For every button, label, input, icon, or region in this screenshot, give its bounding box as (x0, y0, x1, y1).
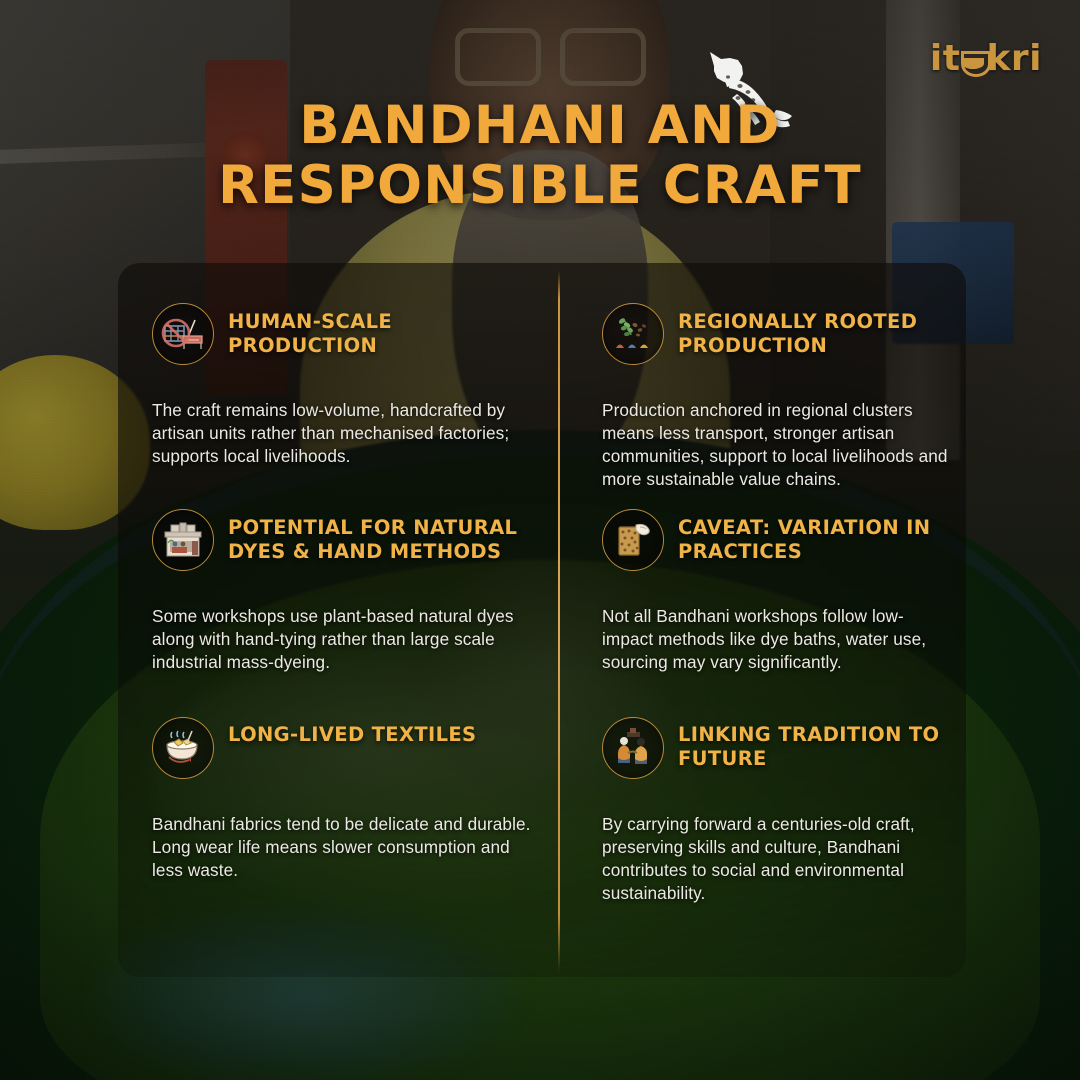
feature-body: Bandhani fabrics tend to be delicate and… (152, 813, 536, 882)
feature-card-caveat-variation-in-practices[interactable]: CAVEAT: VARIATION IN PRACTICES Not all B… (558, 469, 966, 677)
feature-title: LONG-LIVED TEXTILES (228, 717, 476, 747)
feature-body: The craft remains low-volume, handcrafte… (152, 399, 536, 468)
two-artisans-icon (602, 717, 664, 779)
feature-title: REGIONALLY ROOTED PRODUCTION (678, 303, 950, 358)
feature-title: LINKING TRADITION TO FUTURE (678, 717, 950, 771)
brand-logo[interactable]: itkri (930, 38, 1042, 79)
feature-header: LINKING TRADITION TO FUTURE (602, 717, 950, 779)
page-title-line-2: RESPONSIBLE CRAFT (0, 156, 1080, 216)
feature-title: HUMAN-SCALE PRODUCTION (228, 303, 536, 358)
feature-header: POTENTIAL FOR NATURAL DYES & HAND METHOD… (152, 509, 536, 571)
hand-holding-fabric-swatch-icon (602, 509, 664, 571)
feature-header: LONG-LIVED TEXTILES (152, 717, 536, 779)
feature-grid: HUMAN-SCALE PRODUCTION The craft remains… (118, 263, 966, 977)
plant-dye-powders-icon (602, 303, 664, 365)
feature-title: CAVEAT: VARIATION IN PRACTICES (678, 509, 950, 564)
feature-card-long-lived-textiles[interactable]: LONG-LIVED TEXTILES Bandhani fabrics ten… (118, 677, 558, 977)
feature-card-human-scale-production[interactable]: HUMAN-SCALE PRODUCTION The craft remains… (118, 263, 558, 469)
header: itkri BANDHANI AND RESPONSIBLE CRAFT (0, 0, 1080, 262)
logo-text-post: kri (986, 38, 1042, 79)
feature-card-regionally-rooted-production[interactable]: REGIONALLY ROOTED PRODUCTION Production … (558, 263, 966, 469)
feature-body: Some workshops use plant-based natural d… (152, 605, 536, 674)
basket-icon (961, 47, 985, 71)
feature-card-linking-tradition-to-future[interactable]: LINKING TRADITION TO FUTURE By carrying … (558, 677, 966, 977)
no-factory-machine-icon (152, 303, 214, 365)
feature-header: HUMAN-SCALE PRODUCTION (152, 303, 536, 365)
page-title-line-1: BANDHANI AND (299, 95, 780, 156)
workshop-shop-icon (152, 509, 214, 571)
logo-text-pre: it (930, 38, 961, 79)
feature-header: CAVEAT: VARIATION IN PRACTICES (602, 509, 950, 571)
content-panel: HUMAN-SCALE PRODUCTION The craft remains… (118, 263, 966, 977)
page-title: BANDHANI AND RESPONSIBLE CRAFT (0, 96, 1080, 216)
feature-body: By carrying forward a centuries-old craf… (602, 813, 950, 905)
steaming-dye-pot-icon (152, 717, 214, 779)
feature-title: POTENTIAL FOR NATURAL DYES & HAND METHOD… (228, 509, 536, 564)
feature-header: REGIONALLY ROOTED PRODUCTION (602, 303, 950, 365)
feature-card-natural-dyes-hand-methods[interactable]: POTENTIAL FOR NATURAL DYES & HAND METHOD… (118, 469, 558, 677)
feature-body: Not all Bandhani workshops follow low-im… (602, 605, 950, 674)
